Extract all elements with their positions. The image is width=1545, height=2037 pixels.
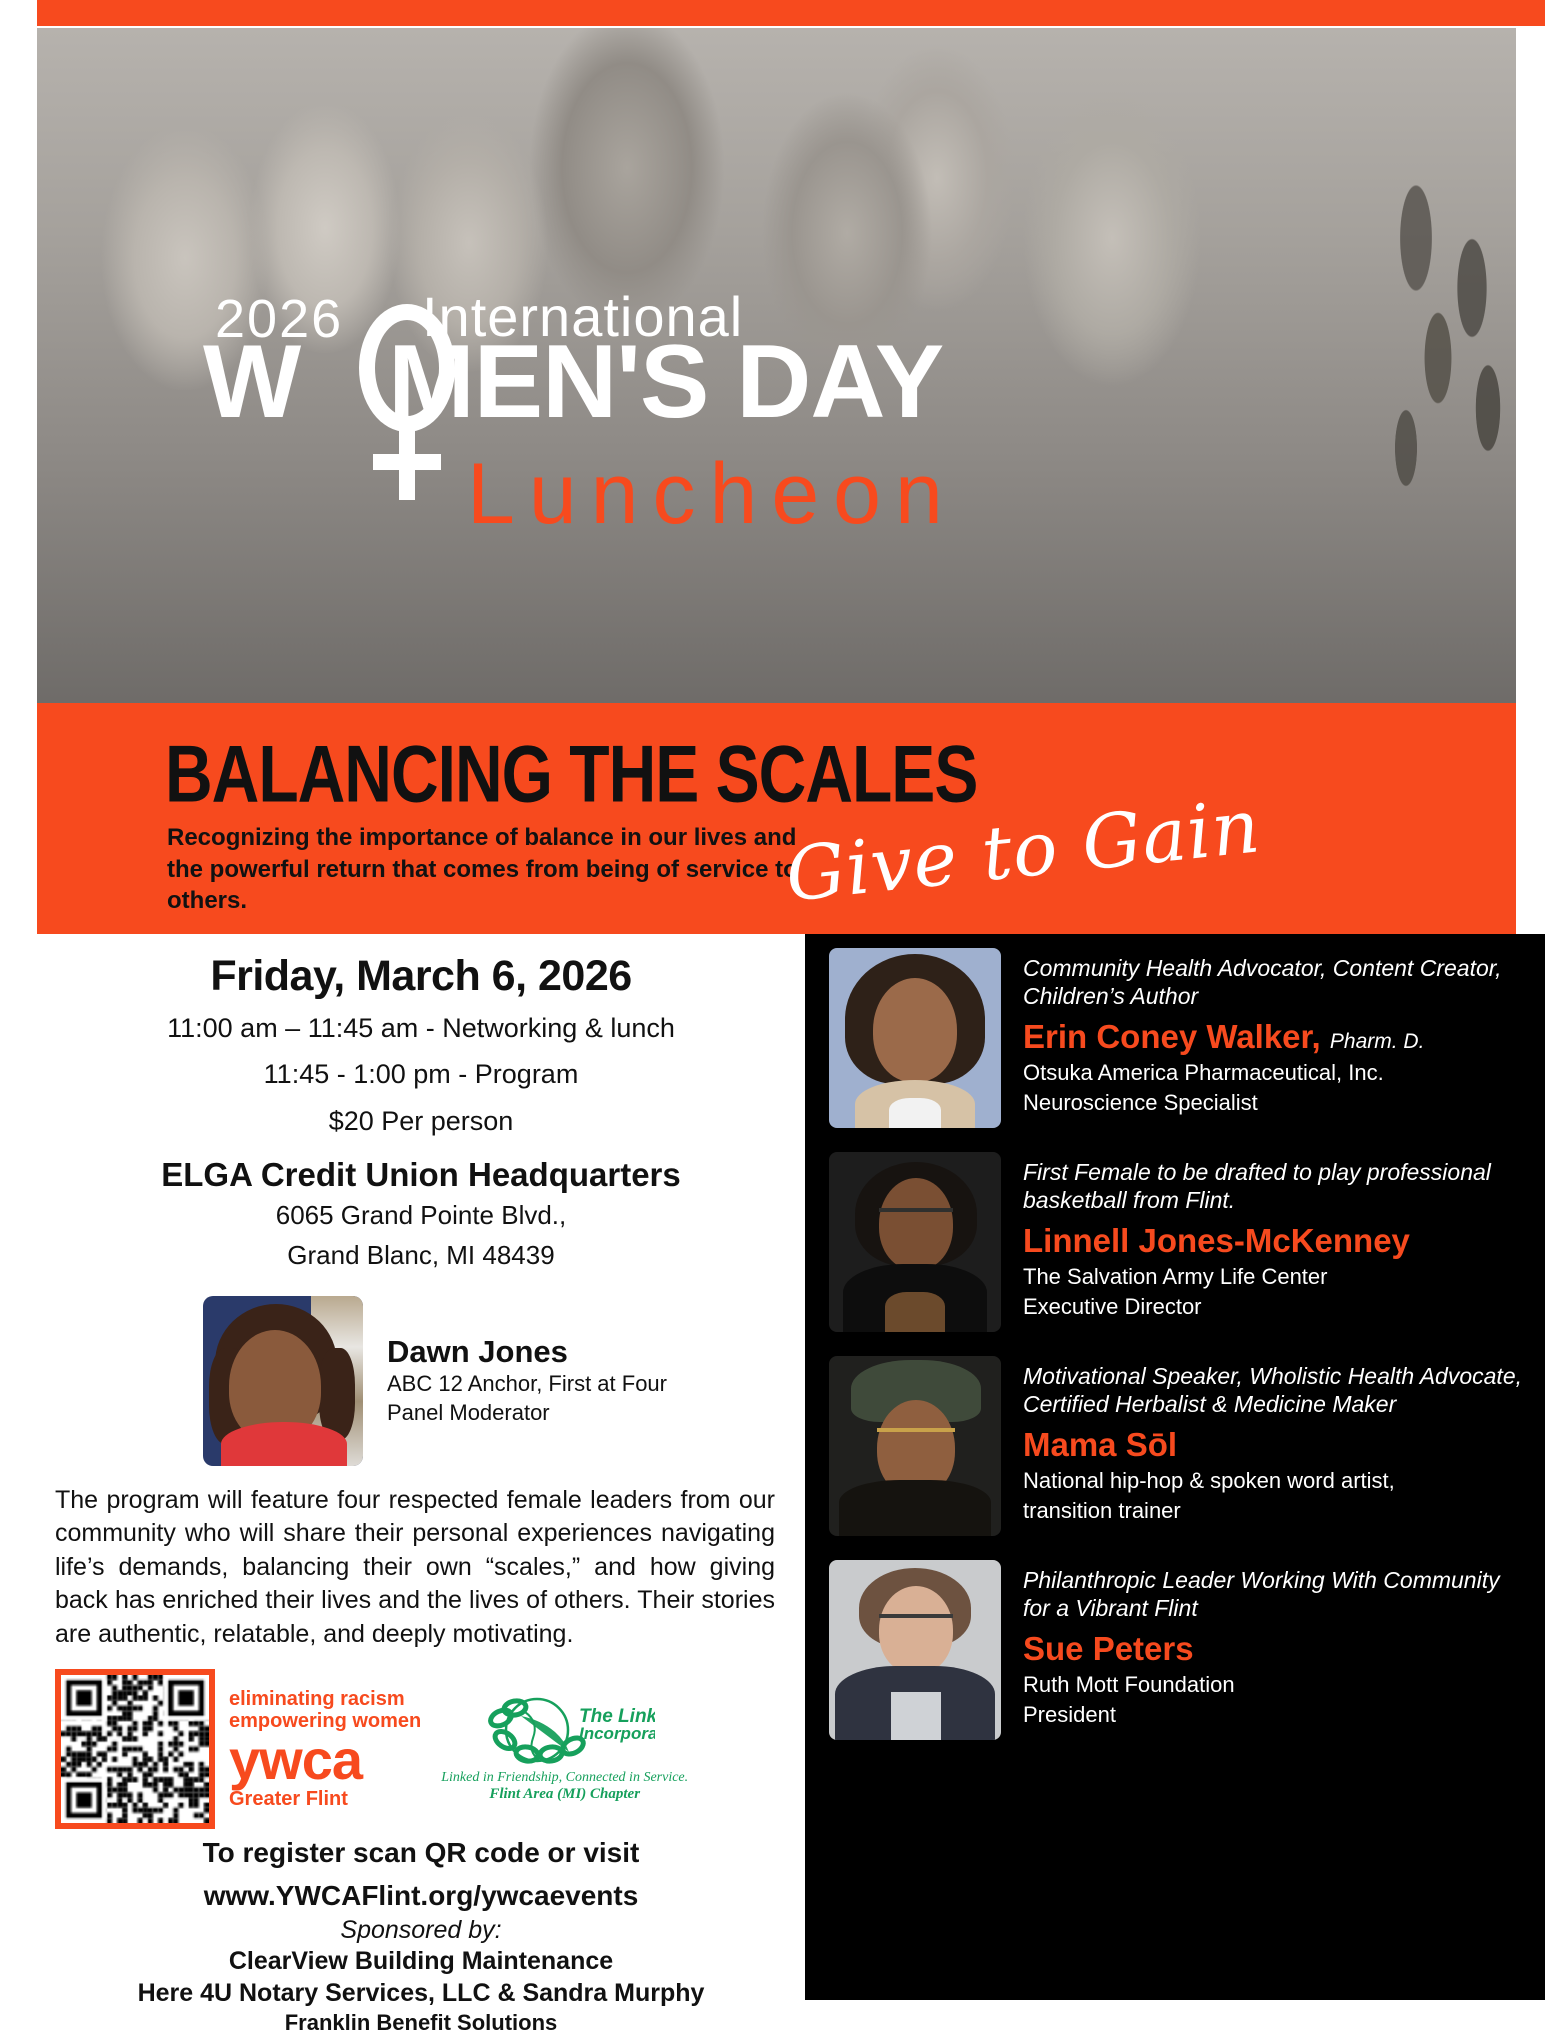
moderator-photo xyxy=(203,1296,363,1466)
speaker-org-2: President xyxy=(1023,1701,1527,1729)
speaker-photo xyxy=(829,1152,1001,1332)
registration-url[interactable]: www.YWCAFlint.org/ywcaevents xyxy=(37,1878,805,1914)
moderator-name: Dawn Jones xyxy=(387,1334,667,1370)
links-globe-icon: The Links, Incorporated xyxy=(475,1696,655,1770)
speaker-org-1: National hip-hop & spoken word artist, xyxy=(1023,1467,1527,1495)
speaker-org-1: Otsuka America Pharmaceutical, Inc. xyxy=(1023,1059,1527,1087)
moderator-role-1: ABC 12 Anchor, First at Four xyxy=(387,1370,667,1399)
moderator-role-2: Panel Moderator xyxy=(387,1399,667,1428)
speaker-card: First Female to be drafted to play profe… xyxy=(805,1138,1545,1342)
sponsors-heading: Sponsored by: xyxy=(37,1916,805,1945)
event-price: $20 Per person xyxy=(37,1102,805,1140)
speaker-photo xyxy=(829,1560,1001,1740)
ywca-logo: eliminating racism empowering women ywca… xyxy=(229,1688,421,1811)
speaker-tagline: Motivational Speaker, Wholistic Health A… xyxy=(1023,1362,1527,1418)
speaker-org-1: Ruth Mott Foundation xyxy=(1023,1671,1527,1699)
hero-luncheon: Luncheon xyxy=(467,445,957,544)
ywca-wordmark: ywca xyxy=(229,1733,421,1786)
speaker-org-1: The Salvation Army Life Center xyxy=(1023,1263,1527,1291)
speaker-card: Motivational Speaker, Wholistic Health A… xyxy=(805,1342,1545,1546)
event-address-2: Grand Blanc, MI 48439 xyxy=(37,1238,805,1274)
ywca-tagline-1: eliminating racism xyxy=(229,1688,421,1710)
speaker-name: Linnell Jones-McKenney xyxy=(1023,1222,1527,1261)
program-description: The program will feature four respected … xyxy=(55,1484,775,1652)
hero-main-title: WMEN'S DAY xyxy=(203,330,943,434)
speaker-name: Erin Coney Walker, Pharm. D. xyxy=(1023,1018,1527,1057)
speaker-name: Mama Sōl xyxy=(1023,1426,1527,1465)
links-incorporated-logo: The Links, Incorporated Linked in Friend… xyxy=(441,1696,688,1803)
qr-code[interactable] xyxy=(55,1669,215,1829)
speaker-tagline: Philanthropic Leader Working With Commun… xyxy=(1023,1566,1527,1622)
speaker-name: Sue Peters xyxy=(1023,1630,1527,1669)
logo-row: eliminating racism empowering women ywca… xyxy=(55,1669,805,1829)
speaker-tagline: Community Health Advocator, Content Crea… xyxy=(1023,954,1527,1010)
speaker-photo xyxy=(829,1356,1001,1536)
event-schedule-1: 11:00 am – 11:45 am - Networking & lunch xyxy=(37,1009,805,1047)
ywca-chapter: Greater Flint xyxy=(229,1788,421,1811)
speaker-card: Community Health Advocator, Content Crea… xyxy=(805,934,1545,1138)
speaker-suffix: Pharm. D. xyxy=(1330,1030,1425,1053)
event-address-1: 6065 Grand Pointe Blvd., xyxy=(37,1198,805,1234)
registration-line-1: To register scan QR code or visit xyxy=(37,1835,805,1871)
speaker-photo xyxy=(829,948,1001,1128)
speaker-org-2: Neuroscience Specialist xyxy=(1023,1089,1527,1117)
sponsor-item: Here 4U Notary Services, LLC & Sandra Mu… xyxy=(37,1977,805,2009)
hero-title-block: 2026 International WMEN'S DAY Luncheon xyxy=(37,290,1516,342)
hero-photo: 2026 International WMEN'S DAY Luncheon xyxy=(37,28,1516,708)
event-details-column: Friday, March 6, 2026 11:00 am – 11:45 a… xyxy=(37,940,805,2000)
plant-decoration xyxy=(1376,148,1516,568)
moderator-block: Dawn Jones ABC 12 Anchor, First at Four … xyxy=(37,1296,805,1466)
links-chapter: Flint Area (MI) Chapter xyxy=(441,1786,688,1803)
sponsor-item: ClearView Building Maintenance xyxy=(37,1945,805,1977)
banner-subtitle: Recognizing the importance of balance in… xyxy=(167,822,827,917)
event-venue: ELGA Credit Union Headquarters xyxy=(37,1156,805,1194)
speaker-tagline: First Female to be drafted to play profe… xyxy=(1023,1158,1527,1214)
speakers-panel: Community Health Advocator, Content Crea… xyxy=(805,934,1545,2000)
links-tagline: Linked in Friendship, Connected in Servi… xyxy=(441,1770,688,1786)
speaker-org-2: Executive Director xyxy=(1023,1293,1527,1321)
top-accent-bar xyxy=(37,0,1545,26)
speaker-org-2: transition trainer xyxy=(1023,1497,1527,1525)
banner-title: BALANCING THE SCALES xyxy=(165,727,977,820)
speaker-card: Philanthropic Leader Working With Commun… xyxy=(805,1546,1545,1750)
theme-banner: BALANCING THE SCALES Recognizing the imp… xyxy=(37,703,1516,934)
event-date: Friday, March 6, 2026 xyxy=(37,952,805,1001)
event-schedule-2: 11:45 - 1:00 pm - Program xyxy=(37,1055,805,1093)
sponsor-item: Franklin Benefit Solutions xyxy=(37,2009,805,2037)
svg-text:Incorporated: Incorporated xyxy=(579,1724,655,1743)
